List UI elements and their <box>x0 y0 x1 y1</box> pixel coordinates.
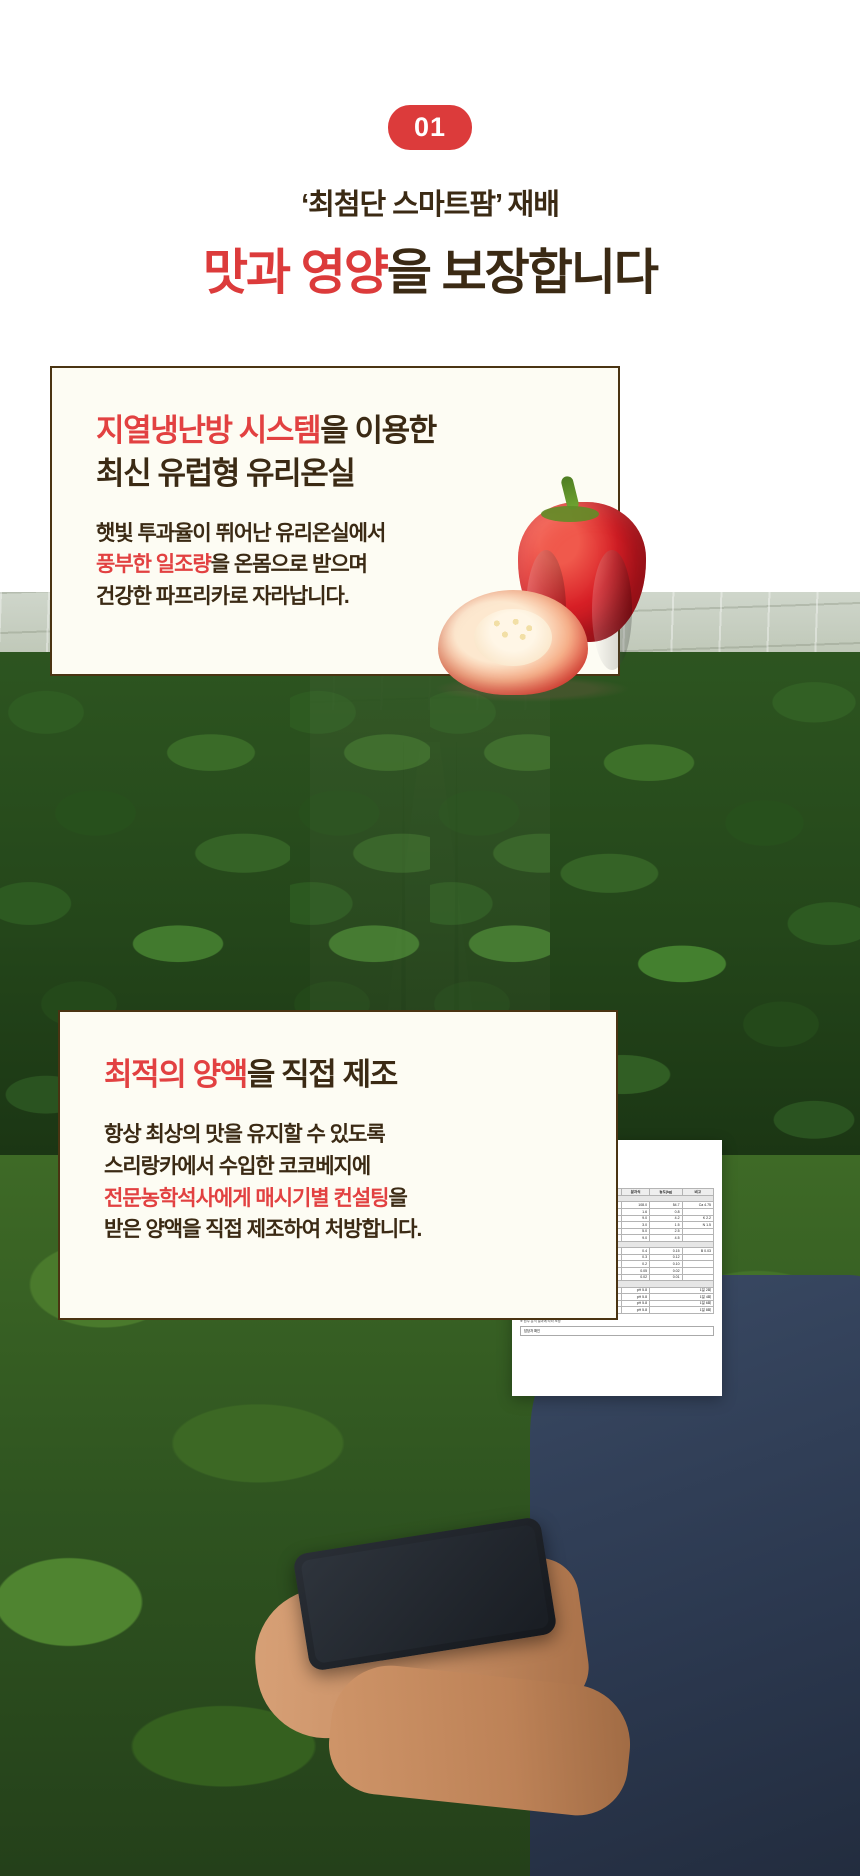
card2-body-line3-rest: 을 <box>388 1187 406 1210</box>
card1-body-line2-emphasis: 풍부한 일조량 <box>96 553 211 576</box>
hero-headline-rest: 을 보장합니다 <box>387 246 657 300</box>
table-cell: 1일 8회 <box>650 1307 714 1314</box>
feature-card-nutrient: 최적의 양액을 직접 제조 항상 최상의 맛을 유지할 수 있도록스리랑카에서 … <box>58 1010 618 1320</box>
card2-heading-emphasis: 최적의 양액 <box>104 1057 247 1092</box>
paprika-lobe-right <box>592 550 632 670</box>
card1-body-line1: 햇빛 투과율이 뛰어난 유리온실에서 <box>96 522 385 545</box>
card2-body-line2: 스리랑카에서 수입한 코코베지에 <box>104 1155 370 1178</box>
paprika-product-image <box>430 470 670 720</box>
card2-body-line1: 항상 최상의 맛을 유지할 수 있도록 <box>104 1123 385 1146</box>
card2-body-line4: 받은 양액을 직접 제조하여 처방합니다. <box>104 1218 421 1241</box>
product-detail-page: 01 ‘최첨단 스마트팜’ 재배 맛과 영양을 보장합니다 지열냉난방 시스템을… <box>0 0 860 1876</box>
hero-header: 01 ‘최첨단 스마트팜’ 재배 맛과 영양을 보장합니다 <box>0 0 860 304</box>
card1-heading-line2: 최신 유럽형 유리온실 <box>96 456 355 491</box>
hero-subtitle: ‘최첨단 스마트팜’ 재배 <box>0 181 860 223</box>
card1-body-line3: 건강한 파프리카로 자라납니다. <box>96 585 349 608</box>
card1-heading-rest: 을 이용한 <box>320 413 436 448</box>
hero-headline: 맛과 영양을 보장합니다 <box>0 233 860 304</box>
card2-body: 항상 최상의 맛을 유지할 수 있도록스리랑카에서 수입한 코코베지에전문농학석… <box>104 1119 616 1247</box>
section-number-badge: 01 <box>388 105 472 150</box>
hero-headline-emphasis: 맛과 영양 <box>203 246 387 300</box>
card1-heading-emphasis: 지열냉난방 시스템 <box>96 413 320 448</box>
document-stamp-box: 담당자 확인 <box>520 1326 714 1336</box>
table-cell: pH 5.8 <box>622 1307 650 1314</box>
card2-heading-rest: 을 직접 제조 <box>247 1057 397 1092</box>
card2-heading: 최적의 양액을 직접 제조 <box>104 1054 616 1097</box>
card1-body-line2-rest: 을 온몸으로 받으며 <box>211 553 367 576</box>
card2-body-line3-emphasis: 전문농학석사에게 매시기별 컨설팅 <box>104 1187 388 1210</box>
